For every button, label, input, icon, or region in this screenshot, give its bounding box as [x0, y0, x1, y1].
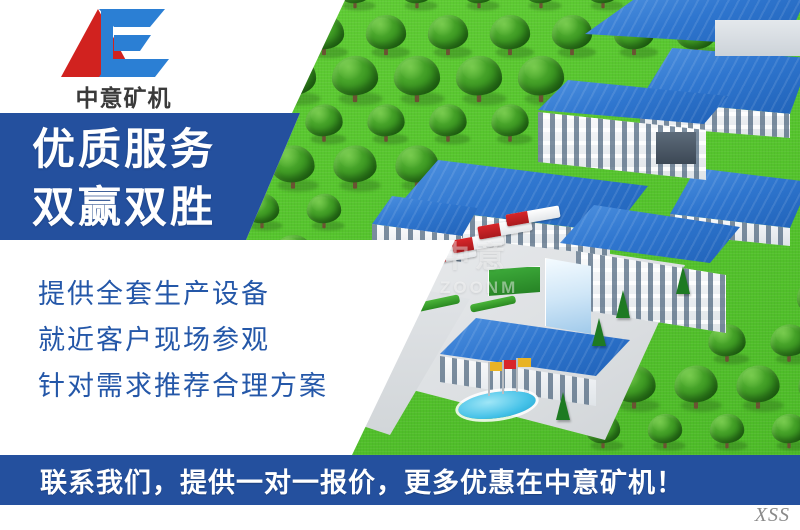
tree-icon	[770, 414, 800, 448]
tree-icon	[672, 365, 719, 408]
logo-mark-icon	[55, 5, 190, 81]
headline-block: 优质服务 双赢双胜	[32, 121, 292, 237]
tree-icon	[522, 0, 560, 8]
tree-icon	[364, 15, 408, 55]
tree-icon	[490, 104, 531, 141]
tree-icon	[426, 15, 470, 55]
bottom-cta-text: 联系我们，提供一对一报价，更多优惠在中意矿机！	[40, 455, 770, 505]
tree-icon	[331, 145, 378, 188]
company-logo: 中意矿机	[55, 5, 190, 110]
conifer-1	[556, 392, 570, 420]
tree-icon	[330, 56, 381, 102]
tree-icon	[454, 56, 505, 102]
conifer-3	[616, 290, 630, 318]
tree-icon	[305, 194, 343, 228]
conifer-2	[592, 318, 606, 346]
tree-icon	[488, 15, 532, 55]
tree-icon	[392, 56, 443, 102]
promotional-banner: 中意 ZOONM 中意矿机 优质服务 双赢双胜 提供全套生产设备 就近客户现场参…	[0, 0, 800, 530]
bullet-item: 针对需求推荐合理方案	[38, 364, 438, 410]
tree-icon	[366, 104, 407, 141]
bullet-item: 就近客户现场参观	[38, 318, 438, 364]
conifer-4	[676, 266, 690, 294]
tree-icon	[734, 365, 781, 408]
tree-icon	[304, 104, 345, 141]
warehouse-rear-left	[585, 0, 800, 80]
tree-icon	[428, 104, 469, 141]
tree-icon	[795, 276, 800, 322]
corner-watermark: XSS	[755, 504, 790, 527]
loading-door	[656, 132, 696, 164]
logo-company-name: 中意矿机	[57, 79, 190, 113]
tree-icon	[398, 0, 436, 8]
bullet-item: 提供全套生产设备	[38, 272, 438, 318]
feature-bullet-list: 提供全套生产设备 就近客户现场参观 针对需求推荐合理方案	[38, 272, 438, 410]
office-upper-center	[528, 80, 728, 200]
headline-line-1: 优质服务	[32, 121, 292, 179]
tree-icon	[769, 324, 800, 361]
tree-icon	[460, 0, 498, 8]
headline-line-2: 双赢双胜	[32, 179, 292, 237]
tree-icon	[708, 414, 746, 448]
product-billboard	[545, 258, 593, 336]
tree-icon	[796, 365, 800, 408]
